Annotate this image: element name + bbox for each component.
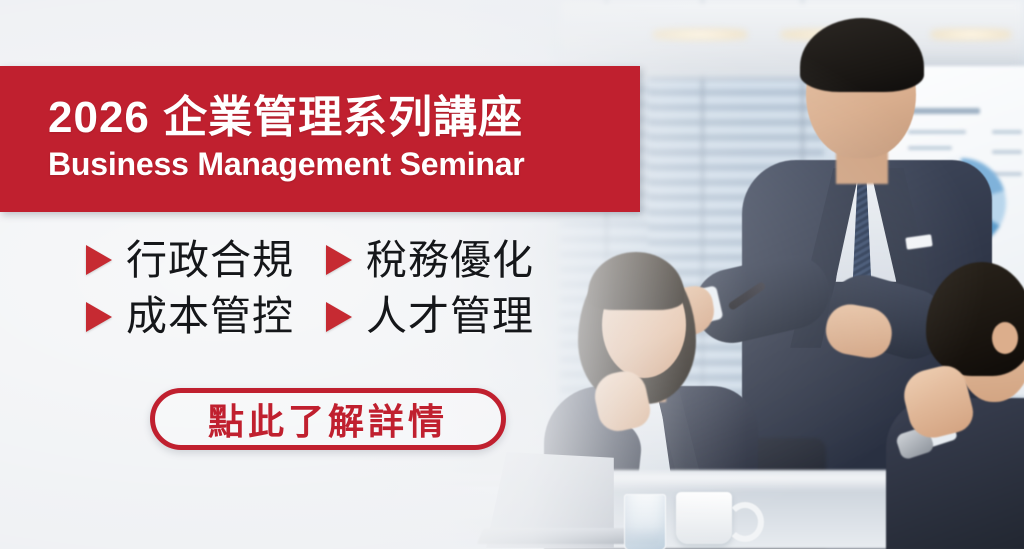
cta-button[interactable]: 點此了解詳情 [150,388,506,450]
triangle-right-icon [326,302,352,332]
triangle-right-icon [86,302,112,332]
feature-item: 成本管控 [86,292,326,340]
triangle-right-icon [86,245,112,275]
banner-content: 2026 企業管理系列講座 Business Management Semina… [0,0,1024,549]
promo-banner: 2026 企業管理系列講座 Business Management Semina… [0,0,1024,549]
feature-item: 人才管理 [326,292,566,340]
page-subtitle: Business Management Seminar [48,147,640,183]
cta-button-label: 點此了解詳情 [208,393,448,445]
triangle-right-icon [326,245,352,275]
feature-item: 稅務優化 [326,236,566,284]
feature-label: 稅務優化 [366,236,534,284]
title-block: 2026 企業管理系列講座 Business Management Semina… [0,66,640,212]
feature-label: 成本管控 [126,292,294,340]
feature-label: 行政合規 [126,236,294,284]
feature-list: 行政合規 稅務優化 成本管控 人才管理 [86,236,606,341]
feature-item: 行政合規 [86,236,326,284]
page-title: 2026 企業管理系列講座 [48,95,640,142]
feature-label: 人才管理 [366,292,534,340]
